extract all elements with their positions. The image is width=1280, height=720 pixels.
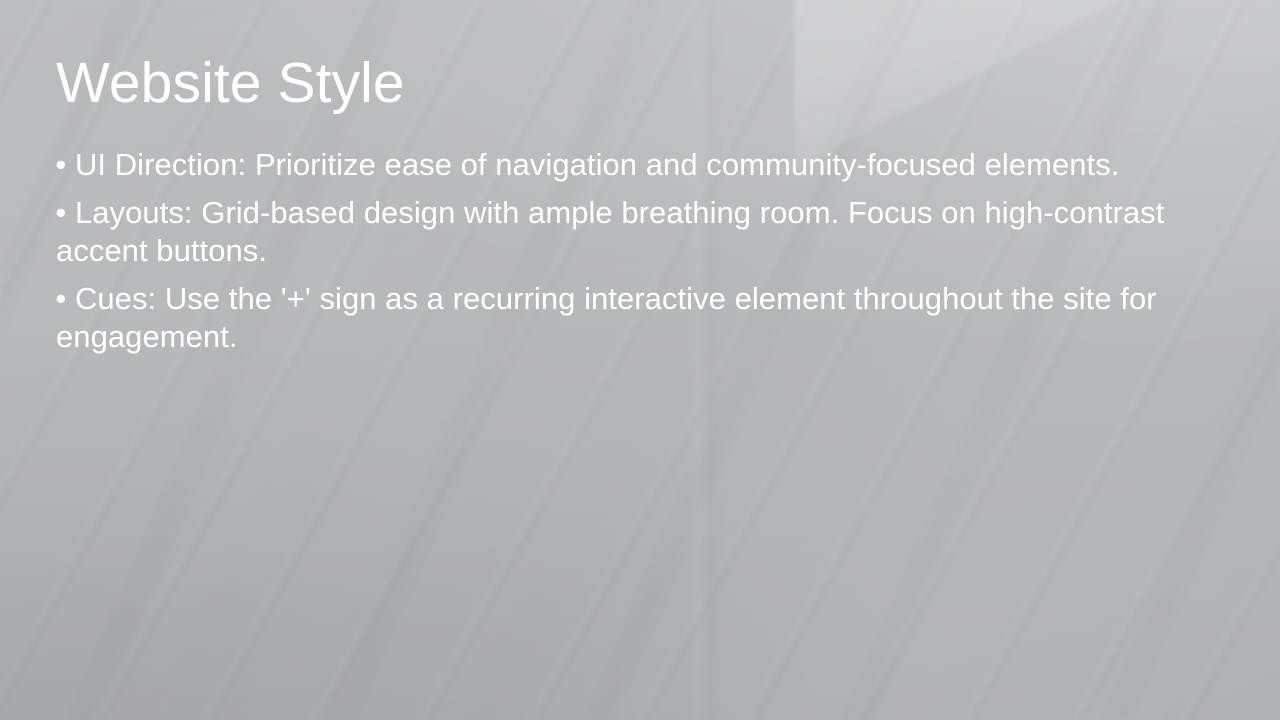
bullet-item-cues: • Cues: Use the '+' sign as a recurring … [56, 280, 1204, 356]
bullet-item-ui-direction: • UI Direction: Prioritize ease of navig… [56, 146, 1204, 184]
slide-content: Website Style • UI Direction: Prioritize… [56, 0, 1204, 720]
presentation-slide: Website Style • UI Direction: Prioritize… [0, 0, 1280, 720]
bullet-list: • UI Direction: Prioritize ease of navig… [56, 146, 1204, 356]
slide-title: Website Style [56, 50, 405, 116]
bullet-item-layouts: • Layouts: Grid-based design with ample … [56, 194, 1204, 270]
